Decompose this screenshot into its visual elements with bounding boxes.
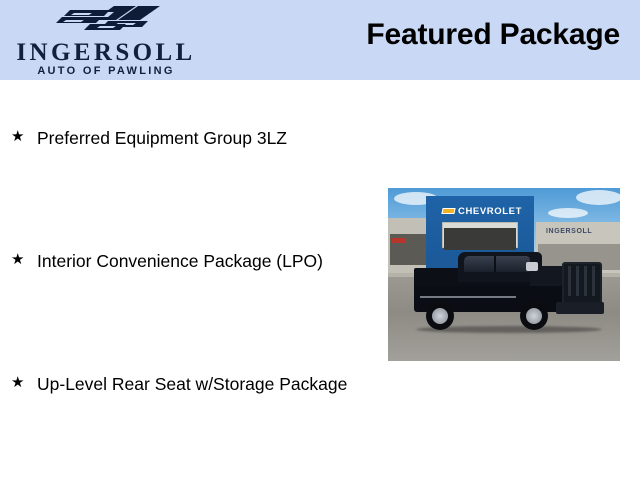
grille-guard-bar bbox=[568, 266, 571, 296]
truck-mirror bbox=[526, 262, 538, 271]
feature-list: ★ Preferred Equipment Group 3LZ ★ Interi… bbox=[8, 127, 368, 395]
ingersoll-wings-icon bbox=[52, 5, 182, 39]
page-title: Featured Package bbox=[366, 18, 620, 52]
dealership-sign: CHEVROLET bbox=[436, 206, 528, 217]
vehicle-photo: INGERSOLL CHEVROLET bbox=[388, 188, 620, 361]
brand-wordmark: INGERSOLL bbox=[6, 40, 206, 65]
building-sign-text: INGERSOLL bbox=[546, 228, 620, 235]
vehicle-photo-scene: INGERSOLL CHEVROLET bbox=[388, 188, 620, 361]
truck-rim-front bbox=[526, 308, 542, 324]
truck-windows bbox=[464, 256, 530, 272]
chevrolet-bowtie-icon bbox=[441, 208, 455, 214]
dealership-sign-text: CHEVROLET bbox=[458, 206, 522, 217]
page-header: INGERSOLL AUTO OF PAWLING Featured Packa… bbox=[0, 0, 640, 80]
list-item-label: Interior Convenience Package (LPO) bbox=[37, 250, 368, 272]
star-bullet-icon: ★ bbox=[11, 373, 24, 392]
list-item: ★ Up-Level Rear Seat w/Storage Package bbox=[8, 373, 368, 395]
grille-guard-bar bbox=[592, 266, 595, 296]
truck-chrome-trim bbox=[420, 296, 516, 298]
pickup-truck bbox=[410, 246, 606, 334]
dealer-logo: INGERSOLL AUTO OF PAWLING bbox=[6, 2, 206, 80]
truck-window-pillar bbox=[494, 256, 496, 272]
list-item-label: Preferred Equipment Group 3LZ bbox=[37, 127, 368, 149]
grille-guard-bar bbox=[584, 266, 587, 296]
interior-accent bbox=[392, 238, 405, 243]
star-bullet-icon: ★ bbox=[11, 127, 24, 146]
cloud bbox=[576, 190, 620, 205]
list-item: ★ Preferred Equipment Group 3LZ bbox=[8, 127, 368, 250]
page-content: ★ Preferred Equipment Group 3LZ ★ Interi… bbox=[0, 80, 640, 480]
list-item: ★ Interior Convenience Package (LPO) bbox=[8, 250, 368, 373]
cloud bbox=[548, 208, 588, 218]
grille-guard-bar bbox=[576, 266, 579, 296]
brand-tagline: AUTO OF PAWLING bbox=[6, 66, 206, 77]
truck-rim-rear bbox=[432, 308, 448, 324]
truck-bumper bbox=[556, 302, 604, 314]
star-bullet-icon: ★ bbox=[11, 250, 24, 269]
list-item-label: Up-Level Rear Seat w/Storage Package bbox=[37, 373, 368, 395]
